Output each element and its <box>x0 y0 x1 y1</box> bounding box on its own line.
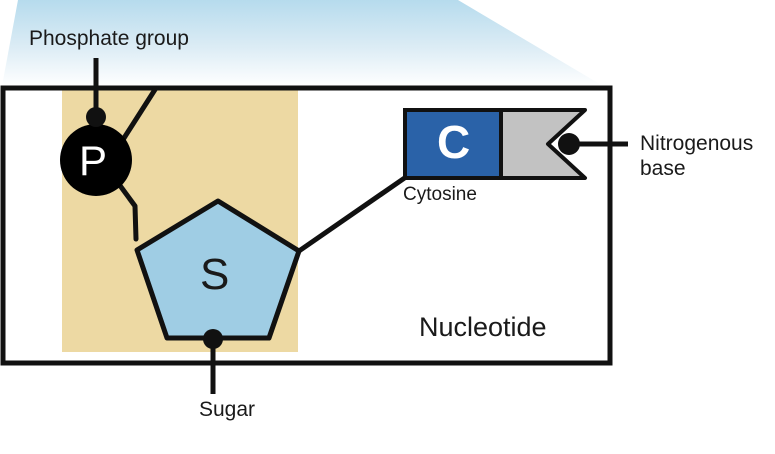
label-nitrogenous-base-line1: Nitrogenous <box>640 132 753 155</box>
label-nucleotide: Nucleotide <box>419 312 547 344</box>
diagram-canvas <box>0 0 775 454</box>
label-sugar: Sugar <box>199 398 255 423</box>
leader-dot-phosphate <box>86 107 106 127</box>
label-phosphate-group: Phosphate group <box>29 27 189 52</box>
leader-dot-sugar <box>203 329 223 349</box>
base-symbol-text: C <box>437 115 470 169</box>
nucleotide-diagram: Phosphate group Nitrogenousbase Sugar Cy… <box>0 0 775 454</box>
bond-sugar-base <box>299 177 406 251</box>
label-nitrogenous-base-line2: base <box>640 157 686 180</box>
sugar-symbol-text: S <box>200 250 229 300</box>
label-nitrogenous-base: Nitrogenousbase <box>640 132 753 182</box>
phosphate-symbol-text: P <box>79 137 107 185</box>
label-cytosine: Cytosine <box>403 184 477 206</box>
leader-dot-nitrogenous-base <box>558 133 580 155</box>
